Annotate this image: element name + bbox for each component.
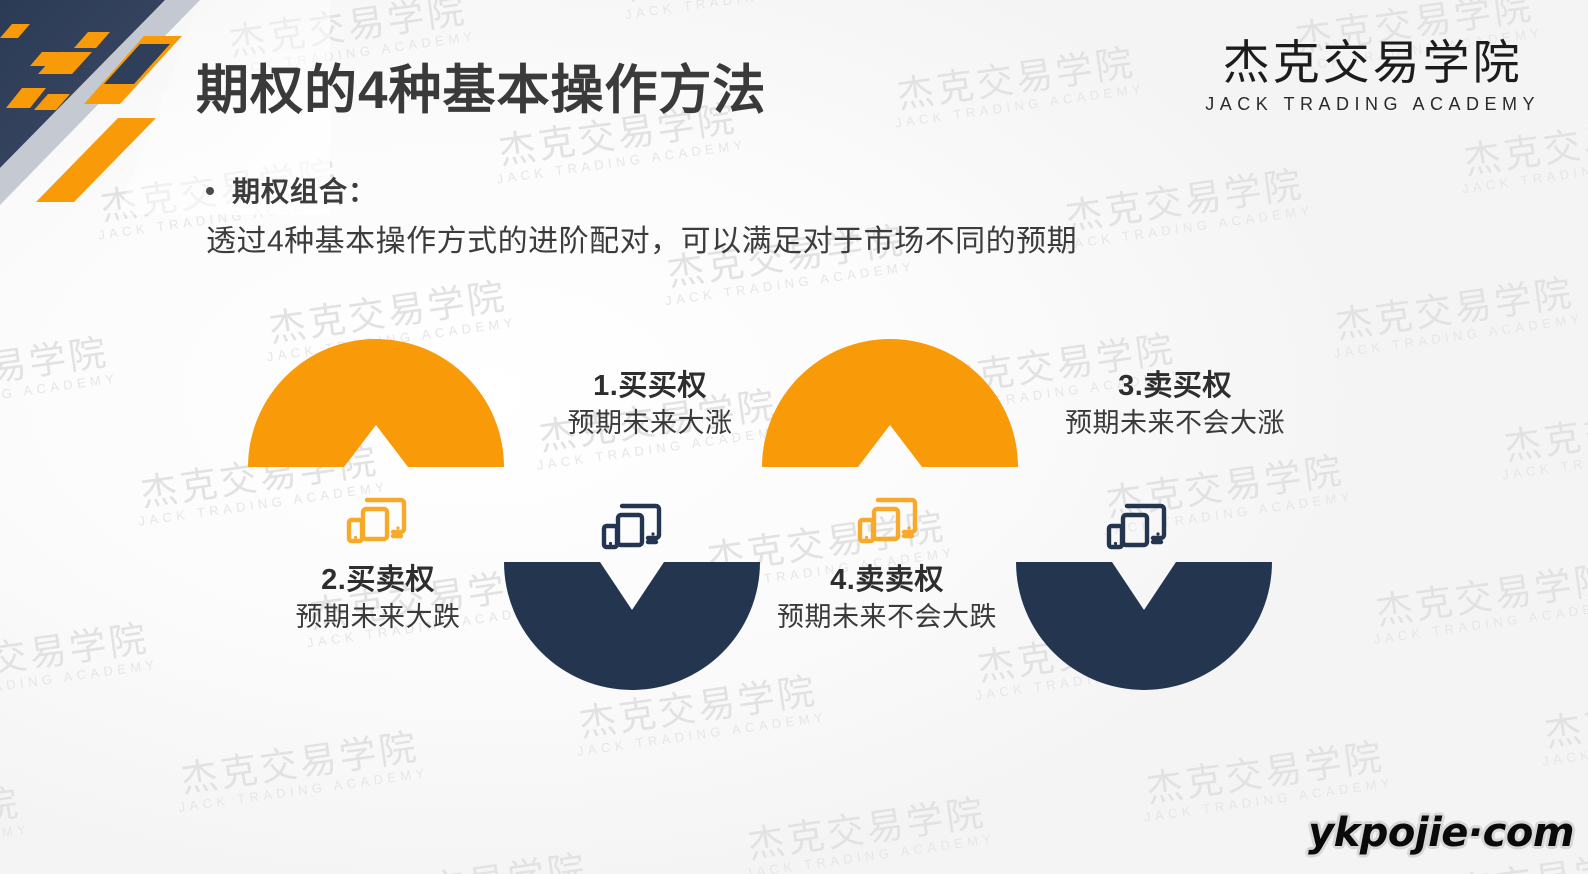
devices-icon <box>1105 498 1169 556</box>
devices-icon <box>856 492 920 550</box>
item-label-1: 1.买买权 预期未来大涨 <box>500 368 800 441</box>
watermark-tile: 杰克交易学院JACK TRADING ACADEMY <box>619 0 876 22</box>
watermark-en: JACK TRADING ACADEMY <box>178 766 430 815</box>
watermark-en: JACK TRADING ACADEMY <box>1461 148 1588 197</box>
slide-canvas: 杰克交易学院JACK TRADING ACADEMY 杰克交易学院JACK TR… <box>0 0 1588 874</box>
item-title-3: 3.卖买权 <box>1010 368 1340 404</box>
item-title-1: 1.买买权 <box>500 368 800 404</box>
watermark-tile: 杰克交易学院JACK TRADING ACADEMY <box>1057 165 1314 252</box>
watermark-cn: 杰克交易学院 <box>619 0 874 9</box>
devices-icon-navy-right <box>1105 498 1167 556</box>
bullet-body: 透过4种基本操作方式的进阶配对，可以满足对于市场不同的预期 <box>206 216 1077 260</box>
devices-icon-orange-right <box>856 492 918 550</box>
watermark-en: JACK TRADING ACADEMY <box>1063 204 1315 253</box>
watermark-cn: 杰克交易学院 <box>0 783 29 857</box>
brand-logo-en: JACK TRADING ACADEMY <box>1205 94 1540 115</box>
options-diagram: 2.买卖权 预期未来大跌 1.买买权 预期未来大涨 <box>0 300 1588 760</box>
bullet-dot-icon <box>206 187 214 195</box>
brand-logo: 杰克交易学院 JACK TRADING ACADEMY <box>1205 38 1540 115</box>
devices-icon-orange-left <box>345 492 407 550</box>
bullet-block: 期权组合： 透过4种基本操作方式的进阶配对，可以满足对于市场不同的预期 <box>206 170 1077 260</box>
page-title: 期权的4种基本操作方法 <box>196 48 766 124</box>
watermark-en: JACK TRADING ACADEMY <box>0 822 31 871</box>
item-subtitle-1: 预期未来大涨 <box>500 406 800 441</box>
navy-bowl-shape-right <box>1016 562 1272 694</box>
watermark-tile: 杰克交易学院JACK TRADING ACADEMY <box>1456 109 1588 196</box>
watermark-tile: 杰克交易学院JACK TRADING ACADEMY <box>0 783 31 870</box>
item-subtitle-3: 预期未来不会大涨 <box>1010 406 1340 441</box>
dome-notch-icon <box>762 335 1018 467</box>
watermark-cn: 杰克交易学院 <box>1456 109 1588 183</box>
watermark-cn: 杰克交易学院 <box>341 849 596 874</box>
item-label-4: 4.卖卖权 预期未来不会大跌 <box>722 562 1052 635</box>
item-label-3: 3.卖买权 预期未来不会大涨 <box>1010 368 1340 441</box>
bullet-heading: 期权组合： <box>232 170 377 210</box>
devices-icon <box>345 492 409 550</box>
watermark-tile: 杰克交易学院JACK TRADING ACADEMY <box>739 793 996 874</box>
bullet-heading-line: 期权组合： <box>206 170 1077 210</box>
devices-icon-navy-left <box>600 498 662 556</box>
watermark-cn: 杰克交易学院 <box>1057 165 1312 239</box>
watermark-cn: 杰克交易学院 <box>889 43 1144 117</box>
dome-notch-icon <box>248 335 504 467</box>
item-label-2: 2.买卖权 预期未来大跌 <box>228 562 528 635</box>
item-subtitle-2: 预期未来大跌 <box>228 600 528 635</box>
watermark-cn: 杰克交易学院 <box>739 793 994 867</box>
item-subtitle-4: 预期未来不会大跌 <box>722 600 1052 635</box>
devices-icon <box>600 498 664 556</box>
watermark-tile: 杰克交易学院JACK TRADING ACADEMY <box>341 849 598 874</box>
orange-dome-shape-right <box>762 335 1018 467</box>
brand-logo-cn: 杰克交易学院 <box>1205 38 1540 89</box>
watermark-en: JACK TRADING ACADEMY <box>624 0 876 22</box>
watermark-en: JACK TRADING ACADEMY <box>894 81 1146 130</box>
site-watermark: ykpojie·com <box>1308 810 1574 856</box>
watermark-en: JACK TRADING ACADEMY <box>745 832 997 874</box>
item-title-2: 2.买卖权 <box>228 562 528 598</box>
bowl-notch-icon <box>1016 562 1272 694</box>
orange-dome-shape-left <box>248 335 504 467</box>
watermark-tile: 杰克交易学院JACK TRADING ACADEMY <box>889 43 1146 130</box>
item-title-4: 4.卖卖权 <box>722 562 1052 598</box>
